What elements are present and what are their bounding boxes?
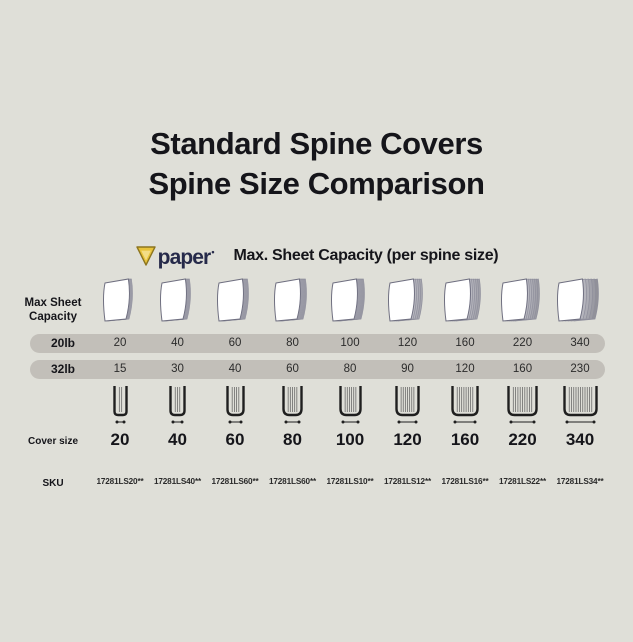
capacity-cell-20lb: 40: [149, 334, 206, 353]
cover-size-cell: 20: [92, 430, 149, 450]
cover-size-cell: 220: [494, 430, 551, 450]
row-label-sku: SKU: [14, 478, 92, 489]
spine-cross-section-cell: [437, 390, 494, 432]
cover-icon-cell: [552, 282, 609, 328]
spine-cross-section-cell: [207, 390, 264, 432]
cover-icons-row: [0, 282, 633, 328]
sku-cell: 17281LS10**: [322, 476, 379, 487]
sku-cell: 17281LS60**: [207, 476, 264, 487]
spine-icon: [222, 385, 249, 432]
capacity-cell-32lb: 80: [322, 360, 379, 379]
spine-cross-section-cell: [264, 390, 321, 432]
spine-cross-section-cell: [379, 390, 436, 432]
cover-size-cell: 120: [379, 430, 436, 450]
row-label-32lb: 32lb: [30, 360, 96, 379]
capacity-cell-32lb: 40: [207, 360, 264, 379]
capacity-row-32lb: 32lb 153040608090120160230: [30, 360, 605, 379]
cover-size-cell: 80: [264, 430, 321, 450]
capacity-row-20lb: 20lb 20406080100120160220340: [30, 334, 605, 353]
spine-cross-section-cell: [322, 390, 379, 432]
sku-cell: 17281LS60**: [264, 476, 321, 487]
capacity-cell-32lb: 60: [264, 360, 321, 379]
sku-cell: 17281LS20**: [92, 476, 149, 487]
sku-cell: 17281LS16**: [437, 476, 494, 487]
cover-icon: [158, 277, 198, 328]
cover-icon-cell: [379, 282, 436, 328]
spine-icon: [391, 385, 424, 432]
cover-icon: [499, 277, 547, 328]
cover-size-cell: 60: [207, 430, 264, 450]
capacity-cell-20lb: 340: [552, 334, 609, 353]
spine-cross-section-row: [0, 390, 633, 432]
cover-icon: [386, 277, 430, 328]
cover-icon-cell: [264, 282, 321, 328]
row-label-20lb: 20lb: [30, 334, 96, 353]
capacity-cell-32lb: 160: [494, 360, 551, 379]
cover-icon-cell: [494, 282, 551, 328]
sku-cell: 17281LS40**: [149, 476, 206, 487]
capacity-cell-20lb: 20: [92, 334, 149, 353]
capacity-cell-20lb: 160: [437, 334, 494, 353]
capacity-cell-32lb: 30: [149, 360, 206, 379]
capacity-cell-20lb: 100: [322, 334, 379, 353]
cover-size-cell: 340: [552, 430, 609, 450]
capacity-cell-32lb: 15: [92, 360, 149, 379]
spine-cross-section-cell: [552, 390, 609, 432]
capacity-cell-32lb: 120: [437, 360, 494, 379]
spine-cross-section-cell: [149, 390, 206, 432]
cover-icon: [272, 277, 314, 328]
logo-wordmark: paper: [158, 246, 211, 270]
cover-icon-cell: [149, 282, 206, 328]
capacity-cell-32lb: 90: [379, 360, 436, 379]
cover-icon-cell: [207, 282, 264, 328]
spine-icon: [335, 385, 366, 432]
spine-cross-section-cell: [92, 390, 149, 432]
capacity-cell-20lb: 80: [264, 334, 321, 353]
legend-header: paper • Max. Sheet Capacity (per spine s…: [0, 242, 633, 270]
cover-size-cell: 100: [322, 430, 379, 450]
spine-icon: [278, 385, 307, 432]
spine-cross-section-cell: [494, 390, 551, 432]
sku-cell: 17281LS12**: [379, 476, 436, 487]
page-title: Standard Spine Covers Spine Size Compari…: [0, 124, 633, 204]
cover-icon: [555, 277, 606, 328]
spine-icon: [165, 385, 190, 432]
spine-icon: [447, 385, 483, 432]
cover-icon: [215, 277, 256, 328]
cover-icon: [101, 277, 140, 328]
cover-size-cell: 40: [149, 430, 206, 450]
spine-icon: [559, 385, 602, 432]
page-title-line-1: Standard Spine Covers: [0, 124, 633, 164]
sku-cell: 17281LS22**: [494, 476, 551, 487]
capacity-cell-20lb: 120: [379, 334, 436, 353]
logo-trademark-icon: •: [211, 247, 214, 257]
capacity-cell-32lb: 230: [552, 360, 609, 379]
page-title-line-2: Spine Size Comparison: [0, 164, 633, 204]
cover-icon-cell: [322, 282, 379, 328]
vpaper-logo: paper •: [135, 242, 214, 270]
spine-icon: [503, 385, 542, 432]
spine-icon: [109, 385, 132, 432]
cover-icon: [329, 277, 372, 328]
logo-v-icon: [135, 245, 157, 267]
cover-icon-cell: [437, 282, 494, 328]
cover-icon: [442, 277, 488, 328]
legend-caption: Max. Sheet Capacity (per spine size): [233, 247, 498, 265]
cover-size-cell: 160: [437, 430, 494, 450]
capacity-cell-20lb: 220: [494, 334, 551, 353]
capacity-cell-20lb: 60: [207, 334, 264, 353]
row-label-cover-size: Cover size: [14, 436, 92, 447]
sku-cell: 17281LS34**: [552, 476, 609, 487]
cover-icon-cell: [92, 282, 149, 328]
